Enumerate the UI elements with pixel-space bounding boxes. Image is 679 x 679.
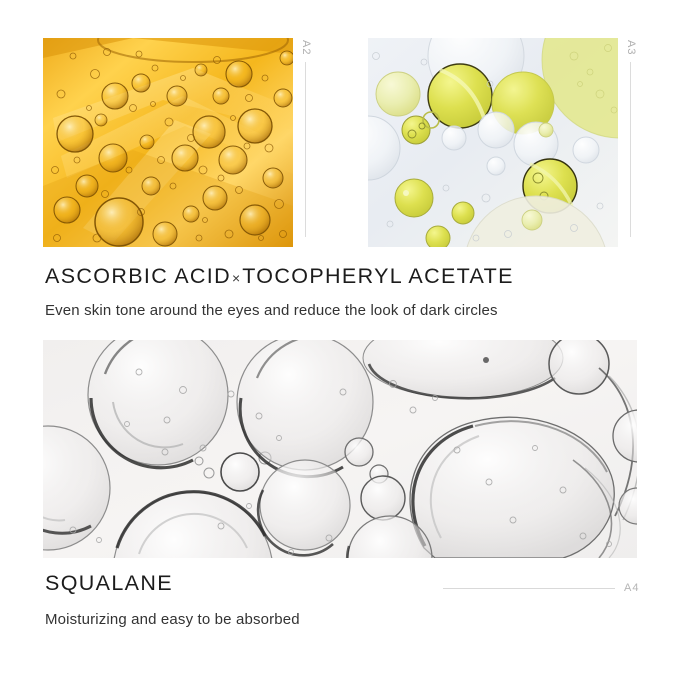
product-ingredient-infographic: A2 bbox=[0, 0, 679, 679]
marker-a2-label: A2 bbox=[300, 40, 311, 55]
marker-a4: A4 bbox=[443, 583, 639, 594]
image-golden-oil bbox=[43, 38, 293, 247]
ascorbic-headline-part2: TOCOPHERYL ACETATE bbox=[242, 264, 514, 288]
ascorbic-headline-part1: ASCORBIC ACID bbox=[45, 264, 231, 288]
marker-a3-line bbox=[630, 62, 631, 237]
marker-a3: A3 bbox=[625, 40, 636, 237]
marker-a3-label: A3 bbox=[625, 40, 636, 55]
marker-a4-line bbox=[443, 588, 615, 589]
yellow-droplets-graphic bbox=[368, 38, 618, 247]
clear-bubbles-graphic bbox=[43, 340, 637, 558]
marker-a2: A2 bbox=[300, 40, 311, 237]
marker-a2-line bbox=[305, 62, 306, 237]
ascorbic-subheadline: Even skin tone around the eyes and reduc… bbox=[45, 302, 498, 319]
image-clear-bubbles bbox=[43, 340, 637, 558]
squalane-headline: SQUALANE bbox=[45, 571, 173, 596]
ascorbic-headline: ASCORBIC ACID×TOCOPHERYL ACETATE bbox=[45, 264, 514, 289]
golden-oil-graphic bbox=[43, 38, 293, 247]
ascorbic-headline-separator: × bbox=[231, 270, 242, 286]
squalane-subheadline: Moisturizing and easy to be absorbed bbox=[45, 611, 300, 628]
image-yellow-droplets bbox=[368, 38, 618, 247]
marker-a4-label: A4 bbox=[624, 583, 639, 594]
